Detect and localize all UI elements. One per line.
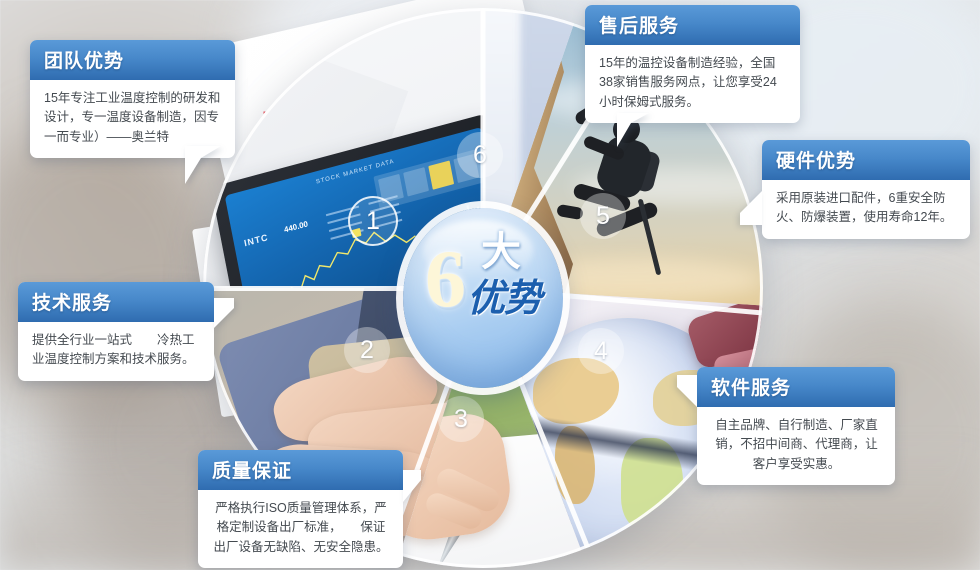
card-title-software: 软件服务 <box>697 367 895 407</box>
callout-card-hardware[interactable]: 硬件优势 采用原装进口配件，6重安全防火、防爆装置，使用寿命12年。 <box>762 140 970 239</box>
segment-number-2[interactable]: 2 <box>344 327 390 373</box>
card-body-after-sales: 15年的温控设备制造经验，全国38家销售服务网点，让您享受24小时保姆式服务。 <box>585 45 800 123</box>
card-title-tech: 技术服务 <box>18 282 214 322</box>
card-title-quality: 质量保证 <box>198 450 403 490</box>
segment-number-3[interactable]: 3 <box>438 396 484 442</box>
center-badge: 6 大 优势 <box>403 208 563 388</box>
callout-card-team[interactable]: 团队优势 15年专注工业温度控制的研发和设计，专一温度设备制造，因专一而专业）—… <box>30 40 235 158</box>
card-tail <box>740 191 762 225</box>
card-title-hardware: 硬件优势 <box>762 140 970 180</box>
card-body-hardware: 采用原装进口配件，6重安全防火、防爆装置，使用寿命12年。 <box>762 180 970 239</box>
badge-subtitle: 优势 <box>467 278 541 320</box>
card-title-after-sales: 售后服务 <box>585 5 800 45</box>
tablet-price-label: 440.00 <box>283 219 308 234</box>
segment-number-1[interactable]: 1 <box>348 196 398 246</box>
card-tail <box>677 375 697 407</box>
card-body-quality: 严格执行ISO质量管理体系，严格定制设备出厂标准， 保证出厂设备无缺陷、无安全隐… <box>198 490 403 568</box>
callout-card-software[interactable]: 软件服务 自主品牌、自行制造、厂家直销，不招中间商、代理商，让客户享受实惠。 <box>697 367 895 485</box>
segment-number-4[interactable]: 4 <box>578 328 624 374</box>
card-tail <box>214 298 234 328</box>
callout-card-quality[interactable]: 质量保证 严格执行ISO质量管理体系，严格定制设备出厂标准， 保证出厂设备无缺陷… <box>198 450 403 568</box>
card-tail <box>185 146 221 184</box>
badge-number: 6 <box>425 238 466 320</box>
poster-canvas: STOCK MARKET DATA INTC 440.00 <box>0 0 980 570</box>
tablet-brand-label: INTC <box>243 232 269 248</box>
callout-card-tech[interactable]: 技术服务 提供全行业一站式 冷热工业温度控制方案和技术服务。 <box>18 282 214 381</box>
card-tail <box>403 470 421 502</box>
segment-number-6[interactable]: 6 <box>457 132 503 178</box>
card-body-software: 自主品牌、自行制造、厂家直销，不招中间商、代理商，让客户享受实惠。 <box>697 407 895 485</box>
card-tail <box>617 113 649 147</box>
card-body-tech: 提供全行业一站式 冷热工业温度控制方案和技术服务。 <box>18 322 214 381</box>
segment-number-5[interactable]: 5 <box>580 193 626 239</box>
callout-card-after-sales[interactable]: 售后服务 15年的温控设备制造经验，全国38家销售服务网点，让您享受24小时保姆… <box>585 5 800 123</box>
badge-big-char: 大 <box>481 232 521 272</box>
card-title-team: 团队优势 <box>30 40 235 80</box>
